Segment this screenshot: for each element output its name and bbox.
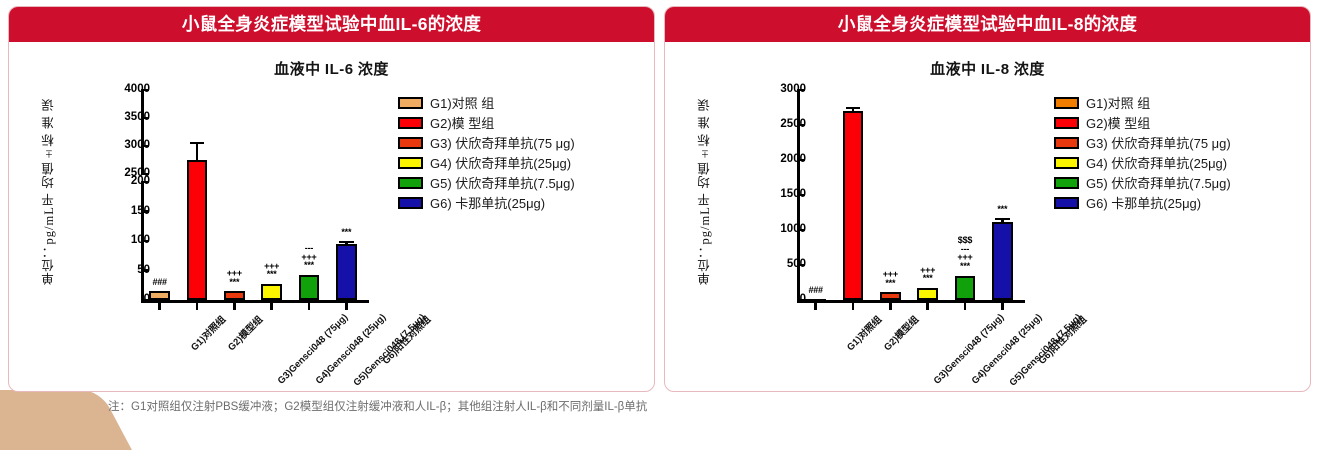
significance-label-g1: ### bbox=[136, 278, 184, 287]
legend-label-g2: G2)模 型组 bbox=[1086, 117, 1150, 130]
x-tick-label-g2: G2)模型组 bbox=[880, 312, 921, 353]
y-tick-mark bbox=[797, 264, 805, 267]
x-tick-label-g3: G3)Gensci048 (75μg) bbox=[932, 312, 1007, 387]
legend-label-g1: G1)对照 组 bbox=[1086, 97, 1150, 110]
significance-label-g1: ### bbox=[792, 286, 840, 295]
error-bar-cap-g6 bbox=[339, 241, 354, 244]
bar-g3[interactable] bbox=[880, 292, 901, 300]
legend-item-g3[interactable]: G3) 伏欣奇拜单抗(75 μg) bbox=[1054, 134, 1300, 152]
legend-label-g6: G6) 卡那单抗(25μg) bbox=[1086, 197, 1201, 210]
x-tick-label-g4: G4)Gensci048 (25μg) bbox=[313, 312, 388, 387]
bar-g1[interactable] bbox=[149, 291, 170, 300]
y-tick-mark bbox=[797, 89, 805, 92]
legend-item-g6[interactable]: G6) 卡那单抗(25μg) bbox=[398, 194, 644, 212]
x-tick-label-g1: G1)对照组 bbox=[843, 312, 884, 353]
footnote: 注：G1对照组仅注射PBS缓冲液；G2模型组仅注射缓冲液和人IL-β；其他组注射… bbox=[108, 398, 647, 414]
significance-label-g5: $$$---+++*** bbox=[941, 236, 989, 270]
legend-item-g1[interactable]: G1)对照 组 bbox=[398, 94, 644, 112]
y-tick-mark bbox=[141, 181, 149, 184]
y-axis-spine bbox=[141, 90, 144, 174]
legend-swatch-g5 bbox=[1054, 177, 1079, 189]
legend-label-g2: G2)模 型组 bbox=[430, 117, 494, 130]
legend-item-g6[interactable]: G6) 卡那单抗(25μg) bbox=[1054, 194, 1300, 212]
bar-g4[interactable] bbox=[261, 284, 282, 301]
y-tick-mark bbox=[141, 269, 149, 272]
error-bar-g2 bbox=[196, 142, 199, 160]
legend-label-g5: G5) 伏欣奇拜单抗(7.5μg) bbox=[1086, 177, 1231, 190]
x-tick-label-g3: G3)Gensci048 (75μg) bbox=[276, 312, 351, 387]
x-tick-3 bbox=[233, 303, 236, 310]
bar-g2-upper-segment[interactable] bbox=[187, 160, 208, 175]
legend-label-g1: G1)对照 组 bbox=[430, 97, 494, 110]
x-tick-1 bbox=[158, 303, 161, 310]
legend-swatch-g1 bbox=[398, 97, 423, 109]
y-axis-label-il8: 单位：pg/mL平 均值±标 准 误 bbox=[695, 76, 721, 306]
x-tick-1 bbox=[814, 303, 817, 310]
legend-item-g5[interactable]: G5) 伏欣奇拜单抗(7.5μg) bbox=[1054, 174, 1300, 192]
plot-area-il8: 050010001500200025003000G1)对照组###G2)模型组G… bbox=[751, 82, 1021, 327]
legend-item-g2[interactable]: G2)模 型组 bbox=[398, 114, 644, 132]
legend-swatch-g4 bbox=[1054, 157, 1079, 169]
panel-il8-header: 小鼠全身炎症模型试验中血IL-8的浓度 bbox=[665, 7, 1310, 42]
x-tick-6 bbox=[345, 303, 348, 310]
legend-swatch-g2 bbox=[1054, 117, 1079, 129]
bar-g6[interactable] bbox=[336, 244, 357, 300]
legend-item-g4[interactable]: G4) 伏欣奇拜单抗(25μg) bbox=[398, 154, 644, 172]
chart-title-il8: 血液中 IL-8 浓度 bbox=[665, 58, 1310, 79]
legend-label-g5: G5) 伏欣奇拜单抗(7.5μg) bbox=[430, 177, 575, 190]
error-bar-cap-g2 bbox=[190, 142, 205, 145]
legend-il6: G1)对照 组G2)模 型组G3) 伏欣奇拜单抗(75 μg)G4) 伏欣奇拜单… bbox=[398, 94, 644, 214]
y-tick-mark bbox=[797, 194, 805, 197]
y-tick-mark bbox=[141, 240, 149, 243]
panels-container: 小鼠全身炎症模型试验中血IL-6的浓度 血液中 IL-6 浓度 单位：pg/mL… bbox=[0, 0, 1319, 392]
legend-label-g6: G6) 卡那单抗(25μg) bbox=[430, 197, 545, 210]
legend-item-g3[interactable]: G3) 伏欣奇拜单抗(75 μg) bbox=[398, 134, 644, 152]
bar-g2[interactable] bbox=[843, 111, 864, 300]
x-tick-5 bbox=[308, 303, 311, 310]
legend-label-g3: G3) 伏欣奇拜单抗(75 μg) bbox=[430, 137, 575, 150]
legend-swatch-g2 bbox=[398, 117, 423, 129]
legend-item-g5[interactable]: G5) 伏欣奇拜单抗(7.5μg) bbox=[398, 174, 644, 192]
legend-item-g2[interactable]: G2)模 型组 bbox=[1054, 114, 1300, 132]
significance-label-g6: *** bbox=[978, 205, 1026, 214]
panel-il8-body: 血液中 IL-8 浓度 单位：pg/mL平 均值±标 准 误 050010001… bbox=[665, 42, 1310, 391]
bar-g6[interactable] bbox=[992, 222, 1013, 300]
y-tick-mark bbox=[141, 117, 149, 120]
legend-item-g1[interactable]: G1)对照 组 bbox=[1054, 94, 1300, 112]
bar-g5[interactable] bbox=[955, 276, 976, 300]
x-tick-label-g1: G1)对照组 bbox=[187, 312, 228, 353]
significance-label-g5: ---+++*** bbox=[285, 244, 333, 270]
bar-g4[interactable] bbox=[917, 288, 938, 301]
error-bar-cap-g2 bbox=[846, 107, 861, 110]
legend-label-g3: G3) 伏欣奇拜单抗(75 μg) bbox=[1086, 137, 1231, 150]
legend-label-g4: G4) 伏欣奇拜单抗(25μg) bbox=[1086, 157, 1227, 170]
legend-swatch-g6 bbox=[398, 197, 423, 209]
y-tick-mark bbox=[797, 229, 805, 232]
y-tick-mark bbox=[141, 89, 149, 92]
x-tick-6 bbox=[1001, 303, 1004, 310]
x-tick-label-g4: G4)Gensci048 (25μg) bbox=[969, 312, 1044, 387]
y-tick-mark bbox=[797, 159, 805, 162]
x-tick-2 bbox=[196, 303, 199, 310]
legend-swatch-g3 bbox=[398, 137, 423, 149]
x-tick-2 bbox=[852, 303, 855, 310]
legend-swatch-g1 bbox=[1054, 97, 1079, 109]
legend-label-g4: G4) 伏欣奇拜单抗(25μg) bbox=[430, 157, 571, 170]
legend-item-g4[interactable]: G4) 伏欣奇拜单抗(25μg) bbox=[1054, 154, 1300, 172]
panel-il6-header: 小鼠全身炎症模型试验中血IL-6的浓度 bbox=[9, 7, 654, 42]
significance-label-g6: *** bbox=[322, 228, 370, 237]
x-axis bbox=[797, 300, 1025, 303]
y-axis-segment-0: 2500300035004000 bbox=[95, 90, 365, 174]
legend-swatch-g3 bbox=[1054, 137, 1079, 149]
legend-il8: G1)对照 组G2)模 型组G3) 伏欣奇拜单抗(75 μg)G4) 伏欣奇拜单… bbox=[1054, 94, 1300, 214]
x-tick-4 bbox=[926, 303, 929, 310]
legend-swatch-g5 bbox=[398, 177, 423, 189]
bar-g1[interactable] bbox=[805, 299, 826, 303]
x-tick-5 bbox=[964, 303, 967, 310]
bar-g2[interactable] bbox=[187, 160, 208, 301]
legend-swatch-g4 bbox=[398, 157, 423, 169]
bar-g3[interactable] bbox=[224, 291, 245, 300]
y-tick-mark bbox=[797, 124, 805, 127]
x-tick-label-g2: G2)模型组 bbox=[224, 312, 265, 353]
y-tick-mark bbox=[141, 210, 149, 213]
panel-il8: 小鼠全身炎症模型试验中血IL-8的浓度 血液中 IL-8 浓度 单位：pg/mL… bbox=[664, 6, 1311, 392]
x-tick-3 bbox=[889, 303, 892, 310]
x-axis bbox=[141, 300, 369, 303]
x-tick-4 bbox=[270, 303, 273, 310]
bar-g5[interactable] bbox=[299, 275, 320, 300]
panel-il6-body: 血液中 IL-6 浓度 单位：pg/mL平 均值±标 准 误 250030003… bbox=[9, 42, 654, 391]
panel-il6: 小鼠全身炎症模型试验中血IL-6的浓度 血液中 IL-6 浓度 单位：pg/mL… bbox=[8, 6, 655, 392]
y-tick-mark bbox=[141, 145, 149, 148]
plot-area-il6: 2500300035004000050100150200G1)对照组###G2)… bbox=[95, 82, 365, 327]
error-bar-cap-g6 bbox=[995, 218, 1010, 221]
y-axis-label-il6: 单位：pg/mL平 均值±标 准 误 bbox=[39, 76, 65, 306]
chart-title-il6: 血液中 IL-6 浓度 bbox=[9, 58, 654, 79]
legend-swatch-g6 bbox=[1054, 197, 1079, 209]
